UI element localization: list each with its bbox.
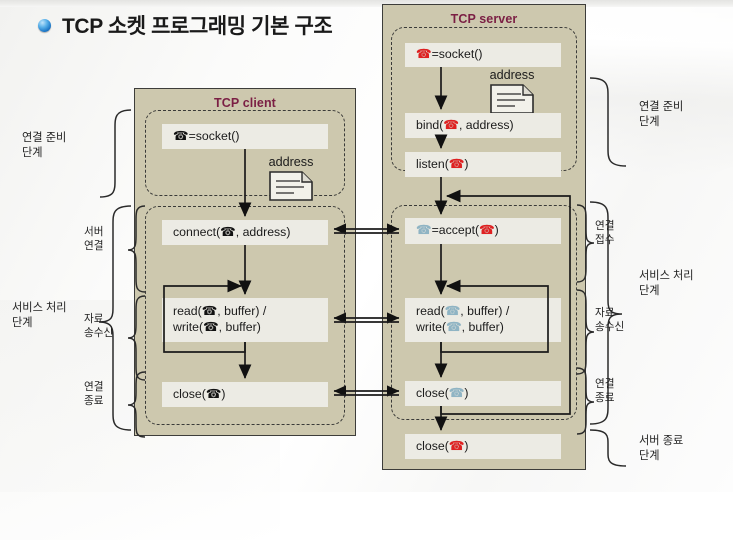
server-node-readwrite[interactable]: read(☎, buffer) / write(☎, buffer) <box>405 298 561 342</box>
server-node-listen[interactable]: listen(☎) <box>405 152 561 177</box>
server-node-socket[interactable]: ☎=socket() <box>405 43 561 67</box>
left-label-prepare: 연결 준비 단계 <box>22 131 66 160</box>
right-label-data: 자료 송수신 <box>595 307 624 335</box>
right-label-close: 연결 종료 <box>595 378 615 406</box>
slide-top-band <box>0 0 733 7</box>
client-node-connect-label: connect(☎, address) <box>173 225 290 241</box>
document-note-icon <box>489 83 535 115</box>
server-node-close-listen-label: close(☎) <box>416 439 469 455</box>
client-node-connect[interactable]: connect(☎, address) <box>162 220 328 245</box>
server-node-readwrite-line1: read(☎, buffer) / <box>416 304 509 320</box>
left-label-connect: 서버 연결 <box>84 226 104 254</box>
server-node-bind-label: bind(☎, address) <box>416 118 514 134</box>
server-node-bind[interactable]: bind(☎, address) <box>405 113 561 138</box>
client-node-close-label: close(☎) <box>173 387 226 403</box>
document-note-icon <box>268 170 314 202</box>
right-label-service: 서비스 처리 단계 <box>639 269 694 298</box>
client-node-socket-label: ☎=socket() <box>173 129 240 145</box>
server-node-close-listen[interactable]: close(☎) <box>405 434 561 459</box>
server-node-accept[interactable]: ☎=accept(☎) <box>405 218 561 244</box>
client-node-socket[interactable]: ☎=socket() <box>162 124 328 149</box>
left-label-close: 연결 종료 <box>84 381 104 409</box>
tcp-server-title: TCP server <box>383 12 585 26</box>
server-node-listen-label: listen(☎) <box>416 157 469 173</box>
left-label-service: 서비스 처리 단계 <box>12 301 67 330</box>
right-label-accept: 연결 접수 <box>595 220 615 248</box>
server-node-close-conn[interactable]: close(☎) <box>405 381 561 406</box>
server-node-accept-label: ☎=accept(☎) <box>416 223 499 239</box>
blue-sphere-bullet-icon <box>38 19 51 32</box>
page-title: TCP 소켓 프로그래밍 기본 구조 <box>62 10 332 40</box>
client-node-readwrite[interactable]: read(☎, buffer) / write(☎, buffer) <box>162 298 328 342</box>
client-node-readwrite-line1: read(☎, buffer) / <box>173 304 266 320</box>
client-node-readwrite-line2: write(☎, buffer) <box>173 320 261 336</box>
client-address-note: address <box>254 155 328 202</box>
server-node-socket-label: ☎=socket() <box>416 47 483 63</box>
server-node-readwrite-line2: write(☎, buffer) <box>416 320 504 336</box>
right-label-prepare: 연결 준비 단계 <box>639 100 683 129</box>
left-label-data: 자료 송수신 <box>84 313 113 341</box>
client-address-note-label: address <box>254 155 328 169</box>
server-node-close-conn-label: close(☎) <box>416 386 469 402</box>
right-label-shutdown: 서버 종료 단계 <box>639 434 683 463</box>
slide-title-row: TCP 소켓 프로그래밍 기본 구조 <box>38 10 332 40</box>
server-address-note-label: address <box>475 68 549 82</box>
client-node-close[interactable]: close(☎) <box>162 382 328 407</box>
tcp-client-title: TCP client <box>135 96 355 110</box>
server-address-note: address <box>475 68 549 115</box>
slide-canvas: TCP 소켓 프로그래밍 기본 구조 TCP client ☎=socket()… <box>0 0 733 492</box>
